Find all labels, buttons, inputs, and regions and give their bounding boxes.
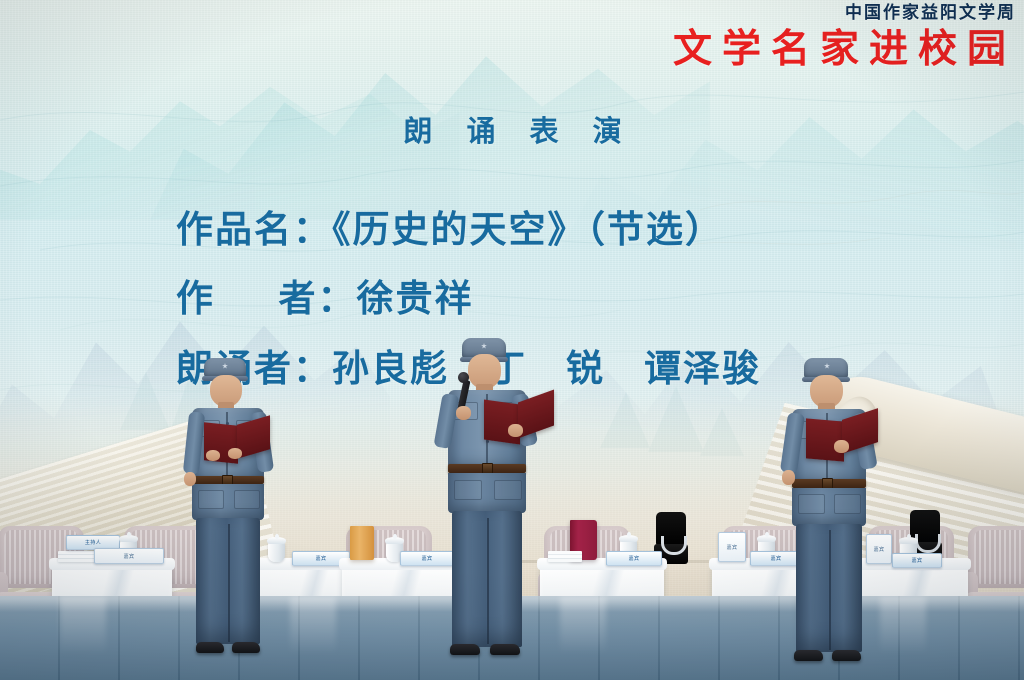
hand-left-mic <box>456 406 471 420</box>
hip-pocket <box>834 494 861 514</box>
floor-reflection <box>560 596 606 680</box>
performer-right <box>782 358 894 670</box>
event-banner: 中国作家益阳文学周 文学名家进校园 <box>673 4 1016 69</box>
recital-folder <box>806 414 878 460</box>
hand-right-folder <box>834 440 849 453</box>
shoe <box>832 650 861 661</box>
shoe <box>232 642 260 653</box>
event-banner-title: 文学名家进校园 <box>673 30 1016 69</box>
name-card: 嘉宾 <box>94 548 164 564</box>
floor-reflection <box>290 596 336 680</box>
slide-work-title: 作品名：《历史的天空》（节选） <box>0 199 1024 253</box>
trouser-split <box>829 530 831 650</box>
book-stack <box>548 551 582 562</box>
name-card: 嘉宾 <box>606 551 662 566</box>
hip-pocket <box>454 480 482 500</box>
performer-left <box>178 358 286 668</box>
hip-pocket <box>494 480 522 500</box>
hand-resting <box>184 472 196 486</box>
hand-left-resting <box>782 470 795 485</box>
slide-section-title: 朗 诵 表 演 <box>0 108 1024 150</box>
floor-reflection <box>60 596 106 680</box>
photo-stage-scene: 中国作家益阳文学周 文学名家进校园 朗 诵 表 演 作品名：《历史的天空》（节选… <box>0 0 1024 680</box>
hand-left <box>206 450 220 461</box>
hip-pocket <box>234 490 260 509</box>
event-organizer-line: 中国作家益阳文学周 <box>673 4 1016 21</box>
hip-pocket <box>798 494 825 514</box>
hand-right <box>228 448 242 459</box>
tan-book <box>350 526 374 560</box>
performer-center <box>432 338 548 670</box>
shoe <box>196 642 224 653</box>
shoe <box>490 644 520 655</box>
folder-left-page <box>484 399 520 444</box>
shoe <box>450 644 480 655</box>
hip-pocket <box>198 490 224 509</box>
microphone-head <box>458 372 469 383</box>
hand-right-folder <box>508 424 523 437</box>
name-card: 嘉宾 <box>718 532 746 562</box>
folder-right-page <box>518 389 554 438</box>
name-card: 嘉宾 <box>892 553 942 568</box>
trouser-split <box>487 518 489 644</box>
shoe <box>794 650 823 661</box>
trouser-split <box>228 524 230 642</box>
slide-author: 作 者：徐贵祥 <box>0 268 1024 322</box>
